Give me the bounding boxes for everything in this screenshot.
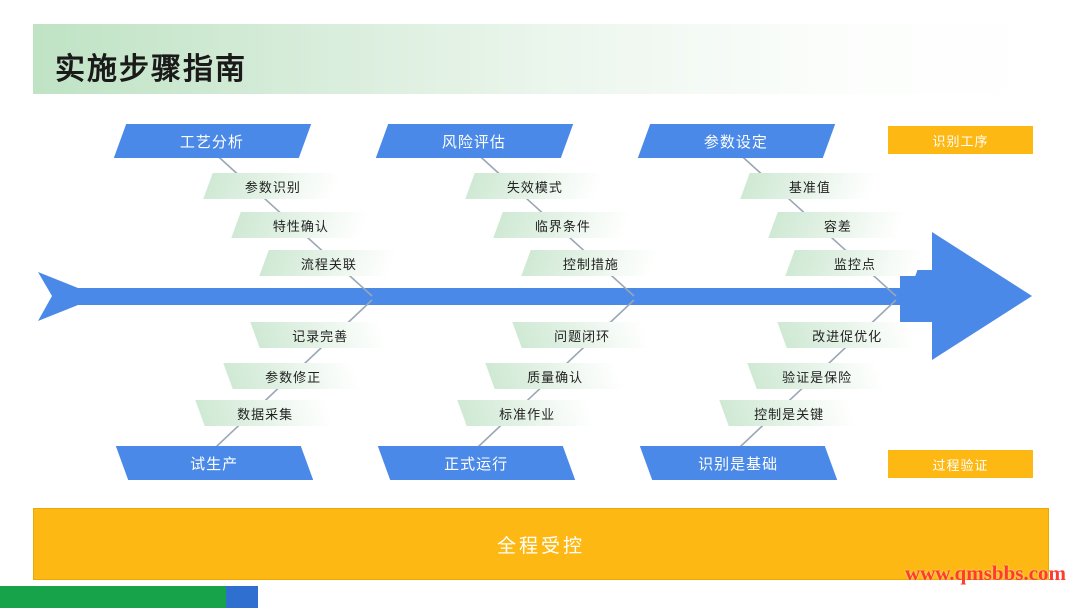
chip-top-1-2[interactable]: 特性确认	[231, 212, 370, 238]
bone-top-2-label: 风险评估	[442, 131, 506, 152]
strip-green	[46, 586, 226, 608]
chip-bottom-2-1[interactable]: 问题闭环	[512, 322, 651, 348]
side-tag-top[interactable]: 识别工序	[888, 126, 1033, 154]
bone-bottom-1-label: 试生产	[190, 453, 238, 474]
bone-top-3-label: 参数设定	[704, 131, 768, 152]
chip-bottom-2-3[interactable]: 标准作业	[457, 400, 596, 426]
chip-top-1-1[interactable]: 参数识别	[203, 173, 342, 199]
chip-top-2-3[interactable]: 控制措施	[521, 250, 660, 276]
bone-bottom-2[interactable]: 正式运行	[378, 446, 575, 480]
strip-green-left	[0, 586, 46, 608]
chip-bottom-1-1[interactable]: 记录完善	[250, 322, 389, 348]
bone-bottom-3[interactable]: 识别是基础	[640, 446, 837, 480]
chip-bottom-3-3[interactable]: 控制是关键	[719, 400, 858, 426]
strip-white	[258, 586, 1080, 608]
bone-bottom-3-label: 识别是基础	[698, 453, 778, 474]
chip-bottom-2-2[interactable]: 质量确认	[485, 363, 624, 389]
chip-top-3-2[interactable]: 容差	[768, 212, 907, 238]
chip-top-3-3[interactable]: 监控点	[785, 250, 924, 276]
bone-top-2[interactable]: 风险评估	[376, 124, 573, 158]
bone-bottom-1[interactable]: 试生产	[116, 446, 313, 480]
chip-top-3-1[interactable]: 基准值	[740, 173, 879, 199]
bone-top-1-label: 工艺分析	[180, 131, 244, 152]
chip-bottom-1-2[interactable]: 参数修正	[223, 363, 362, 389]
watermark: www.qmsbbs.com	[905, 561, 1066, 586]
chip-top-2-2[interactable]: 临界条件	[493, 212, 632, 238]
chip-bottom-3-1[interactable]: 改进促优化	[777, 322, 916, 348]
chip-bottom-3-2[interactable]: 验证是保险	[747, 363, 886, 389]
chip-bottom-1-3[interactable]: 数据采集	[195, 400, 334, 426]
strip-blue	[226, 586, 258, 608]
page-title: 实施步骤指南	[55, 44, 247, 88]
bone-top-3[interactable]: 参数设定	[638, 124, 835, 158]
side-tag-bottom[interactable]: 过程验证	[888, 450, 1033, 478]
footer-bar-label: 全程受控	[497, 531, 585, 558]
bone-bottom-2-label: 正式运行	[444, 453, 508, 474]
footer-bar[interactable]: 全程受控	[33, 508, 1049, 580]
diagram-canvas: 实施步骤指南 工艺分析 风险评估 参数设定 参数识别 特性确认 流程关联 失效模…	[0, 0, 1080, 608]
bone-top-1[interactable]: 工艺分析	[114, 124, 311, 158]
chip-top-2-1[interactable]: 失效模式	[465, 173, 604, 199]
chip-top-1-3[interactable]: 流程关联	[259, 250, 398, 276]
